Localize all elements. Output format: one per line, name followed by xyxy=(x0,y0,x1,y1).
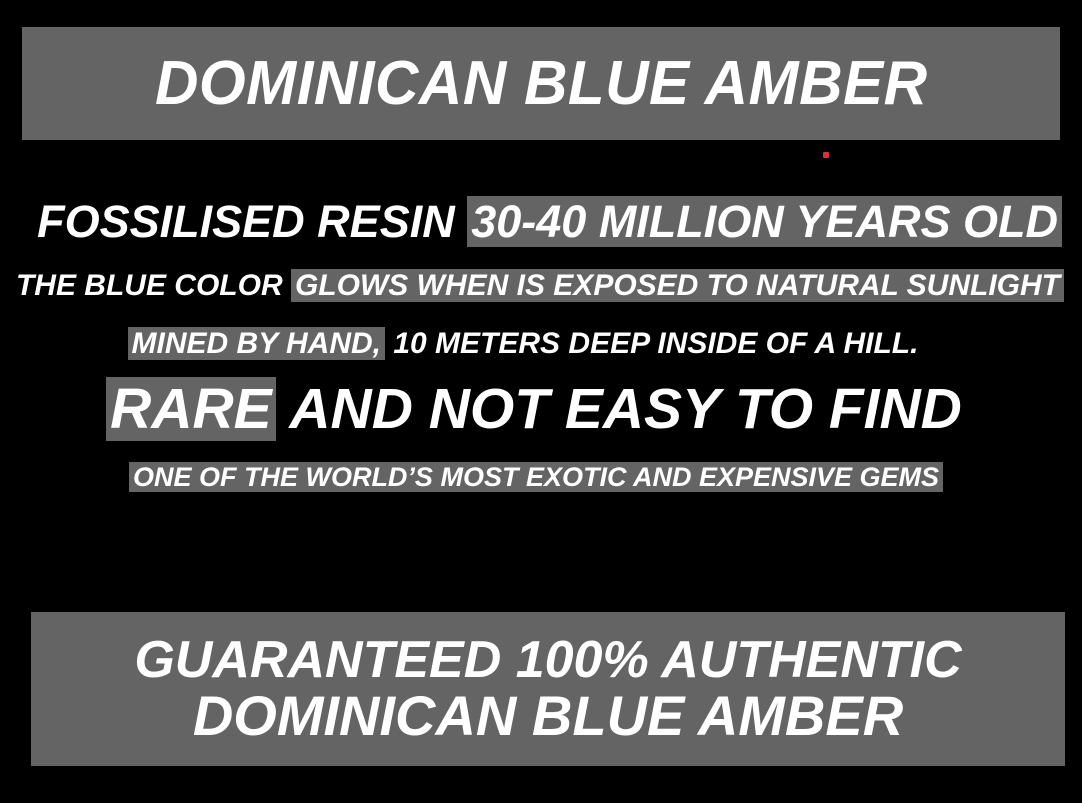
fact-line-glow-highlight: GLOWS WHEN IS EXPOSED TO NATURAL SUNLIGH… xyxy=(291,269,1064,302)
guarantee-banner: GUARANTEED 100% AUTHENTIC DOMINICAN BLUE… xyxy=(31,612,1065,766)
guarantee-banner-line-1: GUARANTEED 100% AUTHENTIC xyxy=(134,634,961,687)
fact-line-rarity: RARE AND NOT EASY TO FIND xyxy=(0,381,1082,438)
fact-line-age-highlight: 30-40 MILLION YEARS OLD xyxy=(467,196,1062,247)
page-title: DOMINICAN BLUE AMBER xyxy=(155,53,928,115)
guarantee-banner-line-2: DOMINICAN BLUE AMBER xyxy=(193,687,903,744)
fact-line-glow-plain-prefix: THE BLUE COLOR xyxy=(16,269,291,302)
fact-line-exotic-highlight: ONE OF THE WORLD’S MOST EXOTIC AND EXPEN… xyxy=(129,462,943,492)
red-dot-marker-icon xyxy=(823,152,829,158)
fact-line-age-plain-prefix: FOSSILISED RESIN xyxy=(37,196,467,247)
fact-line-rarity-plain-suffix: AND NOT EASY TO FIND xyxy=(276,377,962,441)
amber-infographic-poster: DOMINICAN BLUE AMBER FOSSILISED RESIN 30… xyxy=(0,0,1082,803)
fact-line-glow: THE BLUE COLOR GLOWS WHEN IS EXPOSED TO … xyxy=(0,271,1082,301)
title-banner: DOMINICAN BLUE AMBER xyxy=(22,27,1060,140)
fact-line-mining-highlight: MINED BY HAND, xyxy=(128,327,385,360)
fact-line-age: FOSSILISED RESIN 30-40 MILLION YEARS OLD xyxy=(0,199,1082,244)
body-text-block: FOSSILISED RESIN 30-40 MILLION YEARS OLD… xyxy=(0,185,1082,491)
fact-line-mining: MINED BY HAND, 10 METERS DEEP INSIDE OF … xyxy=(0,329,1082,359)
fact-line-rarity-highlight: RARE xyxy=(106,377,276,441)
fact-line-mining-plain-suffix: 10 METERS DEEP INSIDE OF A HILL. xyxy=(385,327,918,360)
fact-line-exotic: ONE OF THE WORLD’S MOST EXOTIC AND EXPEN… xyxy=(0,464,1082,491)
